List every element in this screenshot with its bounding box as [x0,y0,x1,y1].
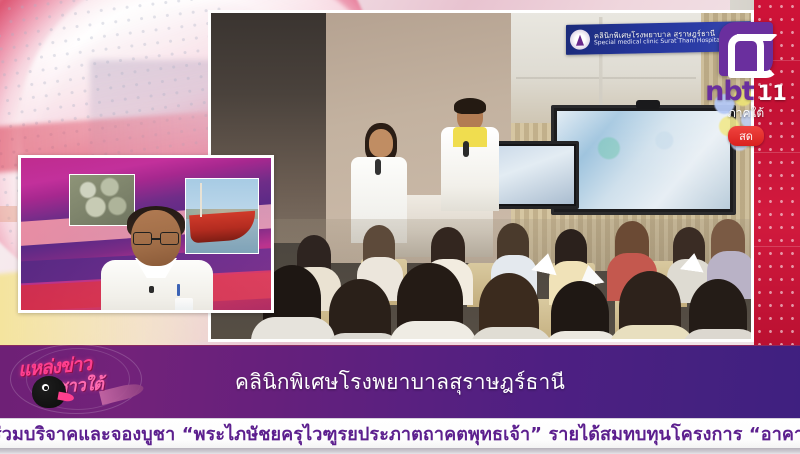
pen-icon [177,284,180,296]
water-glass [175,298,193,313]
program-logo: แหล่งข่าว ชาวใต้ [4,342,150,416]
channel-logo: nbt 11 ภาคใต้ สด [700,22,792,146]
inset-video-panel[interactable] [18,155,274,313]
main-video-panel[interactable]: คลินิกพิเศษโรงพยาบาล สุราษฎร์ธานี Specia… [208,10,754,342]
channel-wordmark: nbt [705,78,753,105]
anchor-person [105,210,207,313]
hospital-seal-icon [570,29,590,49]
lapel-mic-icon [149,286,154,293]
speaker-man [439,101,501,221]
video-camera-icon [636,100,660,109]
eyeglasses-icon [133,232,179,245]
news-ticker: ร่วมบริจาคและจองบูชา “พระไภษัชยครุไวฑูรย… [0,418,800,448]
audience-person [329,279,391,339]
nbt-logo-mark-icon [719,22,773,76]
ticker-shadow [0,448,800,454]
ticker-text: ร่วมบริจาคและจองบูชา “พระไภษัชยครุไวฑูรย… [0,419,800,448]
broadcast-screen: คลินิกพิเศษโรงพยาบาล สุราษฎร์ธานี Specia… [0,0,800,454]
channel-number: 11 [758,83,787,104]
bird-mascot-icon [32,376,66,408]
caption-text: คลินิกพิเศษโรงพยาบาลสุราษฎร์ธานี [235,366,565,399]
live-badge: สด [728,126,764,146]
